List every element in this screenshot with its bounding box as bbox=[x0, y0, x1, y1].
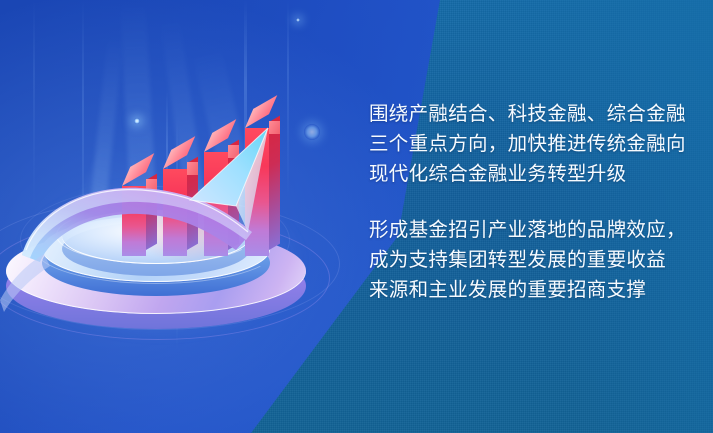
paragraph-2: 形成基金招引产业落地的品牌效应， 成为支持集团转型发展的重要收益 来源和主业发展… bbox=[369, 215, 679, 305]
growth-chart-illustration bbox=[0, 0, 340, 433]
paragraph-2-line-2: 成为支持集团转型发展的重要收益 bbox=[369, 248, 666, 271]
paragraph-1-line-3: 现代化综合金融业务转型升级 bbox=[369, 162, 626, 185]
marketing-copy: 围绕产融结合、科技金融、综合金融 三个重点方向，加快推进传统金融向 现代化综合金… bbox=[369, 99, 679, 305]
paragraph-1: 围绕产融结合、科技金融、综合金融 三个重点方向，加快推进传统金融向 现代化综合金… bbox=[369, 99, 679, 189]
paragraph-1-line-2: 三个重点方向，加快推进传统金融向 bbox=[369, 132, 686, 155]
paragraph-2-line-3: 来源和主业发展的重要招商支撑 bbox=[369, 278, 646, 301]
rising-arrow bbox=[0, 0, 340, 433]
paragraph-2-line-1: 形成基金招引产业落地的品牌效应， bbox=[369, 218, 686, 241]
banner-canvas: 围绕产融结合、科技金融、综合金融 三个重点方向，加快推进传统金融向 现代化综合金… bbox=[0, 0, 713, 433]
paragraph-1-line-1: 围绕产融结合、科技金融、综合金融 bbox=[369, 102, 686, 125]
